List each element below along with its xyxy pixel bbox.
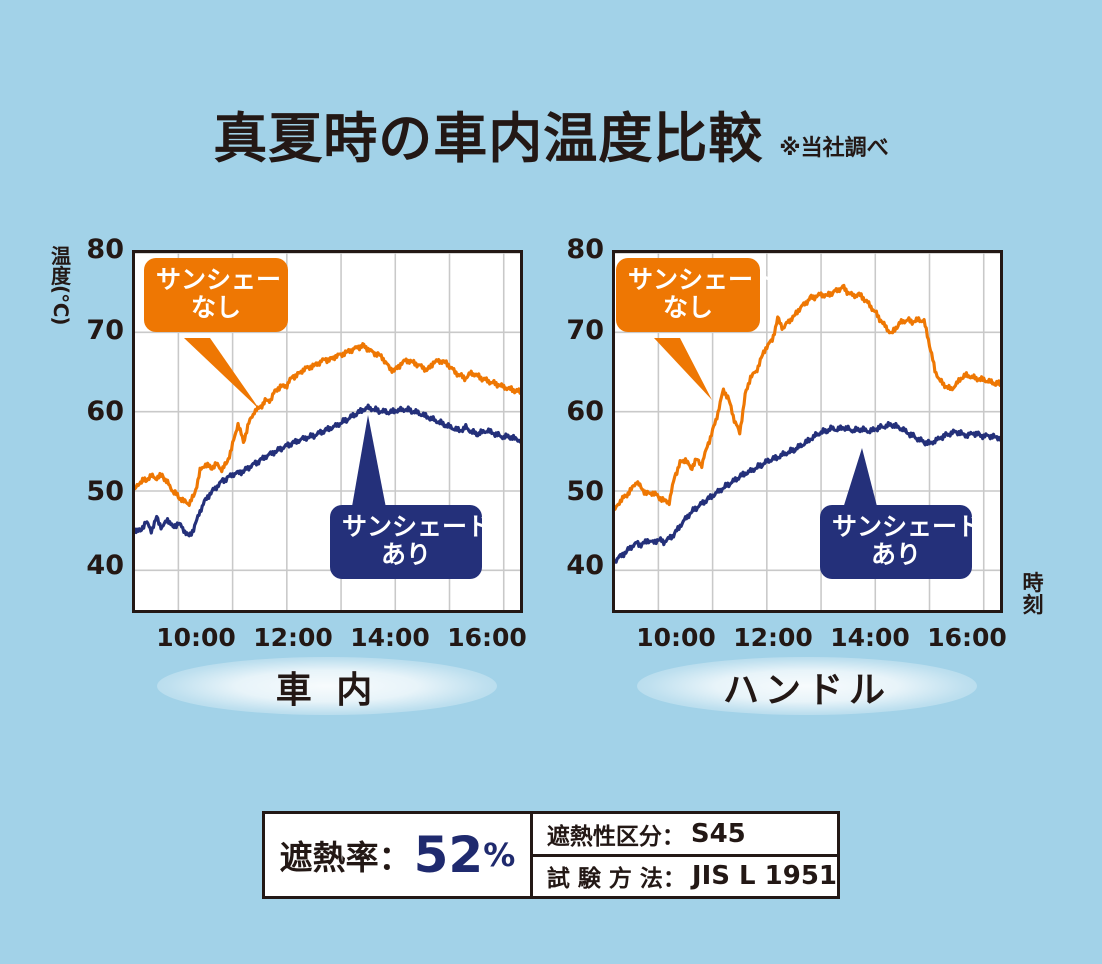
x-tick-1400-left: 14:00 [335,623,445,652]
y-tick-50-left: 50 [76,476,124,507]
y-axis-title-text: 温度 [44,246,78,286]
spec-row-method: 試 験 方 法： JIS L 1951 [533,857,837,897]
y-tick-40-left: 40 [76,550,124,581]
y-tick-80-right: 80 [556,234,604,265]
title-note: ※当社調べ [779,130,888,162]
callout-with-sunshade-left: サンシェード あり [330,505,482,579]
shading-rate-unit: % [483,836,515,874]
callout-with-line1-left: サンシェード [342,513,470,541]
title-row: 真夏時の車内温度比較 ※当社調べ [0,112,1102,166]
x-tick-1400-right: 14:00 [815,623,925,652]
y-tick-60-left: 60 [76,396,124,427]
caption-right: ハンドル [607,657,1007,717]
callout-with-line2-right: あり [832,541,960,569]
caption-left: 車 内 [127,657,527,717]
y-axis-unit-text: (℃) [51,285,71,319]
spec-grade-key: 遮熱性区分： [547,817,685,851]
x-tick-1600-right: 16:00 [912,623,1022,652]
x-axis-title-char1: 時 [1018,572,1048,594]
y-tick-40-right: 40 [556,550,604,581]
y-axis-title: 温度 (℃) [44,246,78,312]
callout-without-sunshade-left: サンシェード なし [144,258,288,332]
page-title: 真夏時の車内温度比較 [213,112,763,166]
callout-without-line1-left: サンシェード [156,266,276,294]
x-tick-1600-left: 16:00 [432,623,542,652]
x-tick-1000-right: 10:00 [621,623,731,652]
callout-without-sunshade-right: サンシェード なし [616,258,760,332]
y-tick-70-left: 70 [76,315,124,346]
shading-rate-cell: 遮熱率： 52 % [265,814,533,896]
spec-method-value: JIS L 1951 [692,861,837,891]
y-tick-80-left: 80 [76,234,124,265]
callout-with-sunshade-right: サンシェード あり [820,505,972,579]
callout-without-line1-right: サンシェード [628,266,748,294]
x-tick-1200-right: 12:00 [718,623,828,652]
x-axis-title: 時 刻 [1018,572,1048,616]
callout-without-line2-right: なし [628,294,748,322]
shading-rate-value: 52 [414,830,484,880]
y-tick-60-right: 60 [556,396,604,427]
infographic-root: 真夏時の車内温度比較 ※当社調べ 温度 (℃) 時 刻 80 70 60 50 … [0,0,1102,964]
callout-without-line2-left: なし [156,294,276,322]
spec-grade-value: S45 [691,819,746,849]
spec-row-grade: 遮熱性区分： S45 [533,814,837,857]
spec-rows: 遮熱性区分： S45 試 験 方 法： JIS L 1951 [533,814,837,896]
y-tick-70-right: 70 [556,315,604,346]
spec-method-key: 試 験 方 法： [547,859,686,893]
x-tick-1200-left: 12:00 [238,623,348,652]
x-axis-title-char2: 刻 [1018,594,1048,616]
y-tick-50-right: 50 [556,476,604,507]
spec-info-box: 遮熱率： 52 % 遮熱性区分： S45 試 験 方 法： JIS L 1951 [262,811,840,899]
x-tick-1000-left: 10:00 [141,623,251,652]
shading-rate-label: 遮熱率： [280,831,412,879]
callout-with-line1-right: サンシェード [832,513,960,541]
callout-with-line2-left: あり [342,541,470,569]
